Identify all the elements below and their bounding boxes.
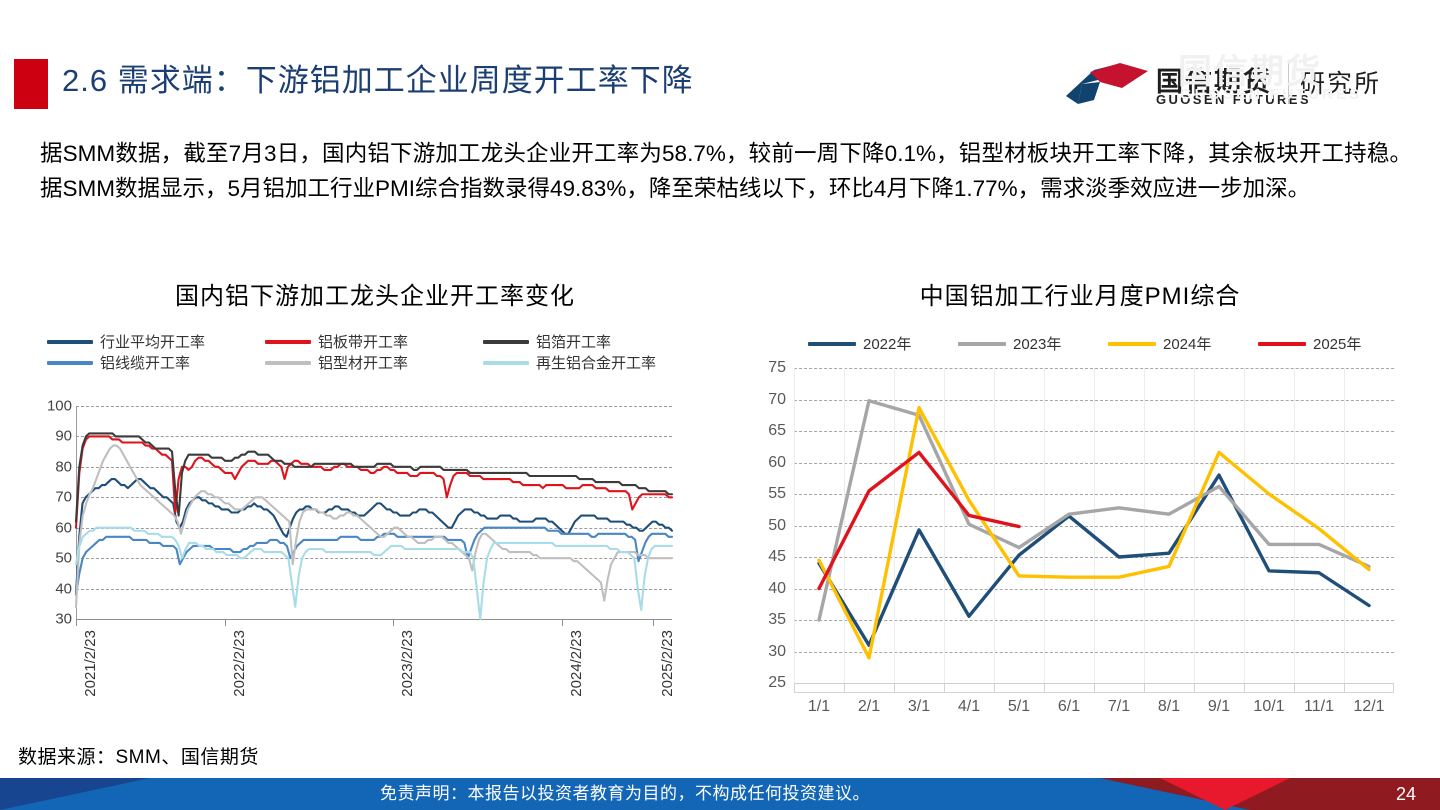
chart-title-operating-rate: 国内铝下游加工龙头企业开工率变化 <box>30 276 720 311</box>
y-tick-label: 70 <box>55 489 72 506</box>
legend-item-operating-3[interactable]: 铝线缆开工率 <box>47 352 265 373</box>
legend-swatch-icon <box>1108 342 1156 346</box>
x-tick-mark <box>994 683 995 693</box>
x-tick-label: 4/1 <box>958 698 980 716</box>
plot-area-operating-rate: 10090807060504030 2021/2/232022/2/232023… <box>30 406 720 636</box>
x-tick-label: 12/1 <box>1353 698 1384 716</box>
y-tick-label: 25 <box>768 674 786 692</box>
y-tick-label: 60 <box>55 519 72 536</box>
legend-swatch-icon <box>265 361 311 365</box>
legend-item-operating-1[interactable]: 铝板带开工率 <box>265 331 483 352</box>
legend-label: 2023年 <box>1013 333 1061 354</box>
legend-label: 2022年 <box>863 333 911 354</box>
legend-label: 再生铝合金开工率 <box>536 352 656 373</box>
x-tick-label: 6/1 <box>1058 698 1080 716</box>
y-tick-label: 75 <box>768 359 786 377</box>
x-tick-label: 10/1 <box>1253 698 1284 716</box>
chart-operating-rate: 国内铝下游加工龙头企业开工率变化 行业平均开工率铝板带开工率铝箔开工率铝线缆开工… <box>30 276 720 746</box>
title-accent-marker <box>14 59 48 109</box>
x-tick-mark <box>1294 683 1295 693</box>
y-tick-label: 55 <box>768 485 786 503</box>
x-tick-label: 2023/2/23 <box>399 630 416 697</box>
y-tick-label: 30 <box>768 643 786 661</box>
x-tick-label: 2021/2/23 <box>82 630 99 697</box>
logo-divider <box>1288 60 1289 104</box>
y-tick-label: 45 <box>768 548 786 566</box>
y-tick-label: 35 <box>768 611 786 629</box>
x-tick-mark <box>1344 683 1345 693</box>
chart-title-pmi-monthly: 中国铝加工行业月度PMI综合 <box>740 276 1420 311</box>
y-tick-label: 50 <box>768 517 786 535</box>
y-tick-label: 80 <box>55 458 72 475</box>
legend-label: 铝线缆开工率 <box>100 352 190 373</box>
x-tick-mark <box>393 619 394 626</box>
legend-item-operating-0[interactable]: 行业平均开工率 <box>47 331 265 352</box>
series-line <box>76 446 672 607</box>
y-tick-label: 40 <box>55 580 72 597</box>
brand-logo: 国信期货 GUOSEN FUTURES 研究所 <box>1060 52 1440 114</box>
x-tick-label: 7/1 <box>1108 698 1130 716</box>
x-tick-mark <box>844 683 845 693</box>
x-tick-label: 9/1 <box>1208 698 1230 716</box>
legend-label: 铝型材开工率 <box>318 352 408 373</box>
legend-label: 2025年 <box>1313 333 1361 354</box>
legend-item-pmi-1[interactable]: 2023年 <box>958 333 1108 354</box>
x-tick-mark <box>562 619 563 626</box>
x-tick-label: 11/1 <box>1304 698 1334 716</box>
y-tick-label: 40 <box>768 580 786 598</box>
legend-swatch-icon <box>808 342 856 346</box>
x-axis-line <box>76 619 672 620</box>
x-tick-mark <box>1244 683 1245 693</box>
plot-area-pmi-monthly: 7570656055504540353025 1/12/13/14/15/16/… <box>740 368 1420 708</box>
x-tick-label: 8/1 <box>1158 698 1180 716</box>
x-tick-label: 2025/2/23 <box>659 630 676 697</box>
footer-bar: 免责声明：本报告以投资者教育为目的，不构成任何投资建议。 24 <box>0 778 1440 810</box>
legend-swatch-icon <box>1258 342 1306 346</box>
y-tick-label: 90 <box>55 428 72 445</box>
legend-swatch-icon <box>483 340 529 344</box>
chart-pmi-monthly: 中国铝加工行业月度PMI综合 2022年2023年2024年2025年 7570… <box>740 276 1420 746</box>
legend-swatch-icon <box>47 340 93 344</box>
x-tick-mark <box>1144 683 1145 693</box>
series-line <box>76 528 672 619</box>
x-tick-mark <box>794 683 795 693</box>
legend-label: 行业平均开工率 <box>100 331 205 352</box>
legend-swatch-icon <box>958 342 1006 346</box>
y-tick-label: 60 <box>768 454 786 472</box>
x-tick-label: 5/1 <box>1008 698 1030 716</box>
legend-item-pmi-0[interactable]: 2022年 <box>808 333 958 354</box>
legend-item-pmi-3[interactable]: 2025年 <box>1258 333 1408 354</box>
legend-item-operating-4[interactable]: 铝型材开工率 <box>265 352 483 373</box>
x-tick-mark <box>944 683 945 693</box>
x-tick-mark <box>653 619 654 626</box>
y-tick-label: 65 <box>768 422 786 440</box>
x-tick-mark <box>76 619 77 626</box>
guosen-logo-icon <box>1060 62 1152 106</box>
y-axis-pmi-monthly: 7570656055504540353025 <box>740 368 786 683</box>
legend-item-operating-2[interactable]: 铝箔开工率 <box>483 331 701 352</box>
y-tick-label: 50 <box>55 550 72 567</box>
legend-label: 铝箔开工率 <box>536 331 611 352</box>
legend-swatch-icon <box>483 361 529 365</box>
legend-operating-rate: 行业平均开工率铝板带开工率铝箔开工率铝线缆开工率铝型材开工率再生铝合金开工率 <box>44 331 704 373</box>
y-tick-label: 100 <box>47 398 72 415</box>
series-lines-pmi-monthly <box>794 368 1394 683</box>
x-tick-label: 1/1 <box>808 698 830 716</box>
page-number: 24 <box>1396 778 1416 810</box>
y-axis-operating-rate: 10090807060504030 <box>30 406 72 619</box>
y-tick-label: 70 <box>768 391 786 409</box>
legend-swatch-icon <box>265 340 311 344</box>
x-tick-mark <box>1094 683 1095 693</box>
legend-label: 2024年 <box>1163 333 1211 354</box>
x-tick-mark <box>894 683 895 693</box>
series-line <box>819 401 1369 620</box>
legend-pmi-monthly: 2022年2023年2024年2025年 <box>808 333 1408 354</box>
legend-item-pmi-2[interactable]: 2024年 <box>1108 333 1258 354</box>
x-tick-label: 3/1 <box>908 698 930 716</box>
series-line <box>819 408 1369 658</box>
y-tick-label: 30 <box>55 611 72 628</box>
x-tick-label: 2024/2/23 <box>568 630 585 697</box>
x-tick-mark <box>1044 683 1045 693</box>
series-line <box>819 452 1019 588</box>
page-title: 2.6 需求端：下游铝加工企业周度开工率下降 <box>62 54 694 108</box>
legend-swatch-icon <box>47 361 93 365</box>
x-tick-mark <box>1194 683 1195 693</box>
legend-label: 铝板带开工率 <box>318 331 408 352</box>
logo-subtitle: 研究所 <box>1300 64 1381 100</box>
body-paragraph: 据SMM数据，截至7月3日，国内铝下游加工龙头企业开工率为58.7%，较前一周下… <box>40 136 1412 206</box>
x-tick-mark <box>225 619 226 626</box>
footer-disclaimer: 免责声明：本报告以投资者教育为目的，不构成任何投资建议。 <box>0 778 1440 810</box>
series-line <box>76 436 672 527</box>
x-tick-label: 2/1 <box>858 698 880 716</box>
series-lines-operating-rate <box>76 406 672 619</box>
source-note: 数据来源：SMM、国信期货 <box>18 742 259 769</box>
legend-item-operating-5[interactable]: 再生铝合金开工率 <box>483 352 701 373</box>
x-tick-label: 2022/2/23 <box>231 630 248 697</box>
